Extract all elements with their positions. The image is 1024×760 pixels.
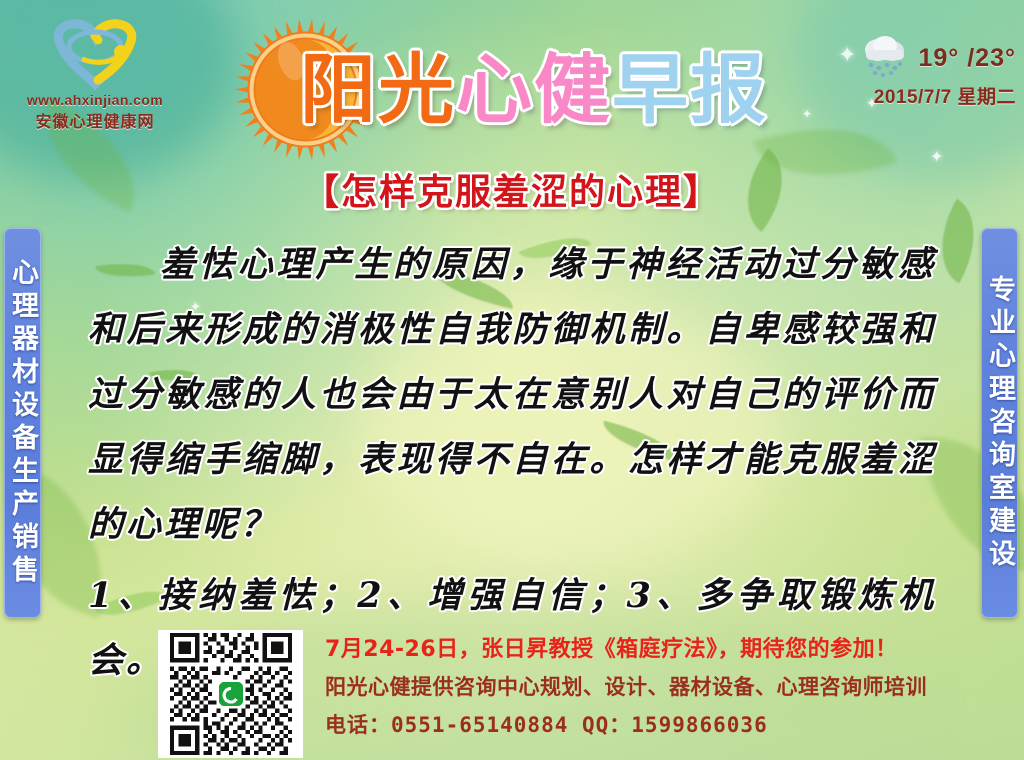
article-headline: 【怎样克服羞涩的心理】 — [0, 163, 1024, 215]
footer-text: 7月24-26日，张日昇教授《箱庭疗法》，期待您的参加！ 阳光心健提供咨询中心规… — [325, 630, 927, 744]
site-logo[interactable]: www.ahxinjian.com 安徽心理健康网 — [20, 14, 170, 132]
weather-date: 2015/7/7 星期二 — [826, 82, 1016, 109]
rain-cloud-icon — [858, 34, 914, 83]
masthead-title: 阳光 心健 早报 — [300, 38, 768, 142]
qr-code-icon[interactable] — [158, 630, 303, 758]
poster-canvas: ✦ ✦ ✦ ✦ ✦ ✦ www.ahxinjian.com 安徽心理健康网 — [0, 0, 1024, 760]
site-name-cn: 安徽心理健康网 — [20, 108, 170, 132]
masthead-part-1: 阳光 — [300, 52, 456, 128]
heart-swirl-logo-icon — [40, 14, 150, 90]
footer-contact-line: 电话：0551-65140884 QQ：1599866036 — [325, 706, 927, 744]
footer-services-line: 阳光心健提供咨询中心规划、设计、器材设备、心理咨询师培训 — [325, 668, 927, 706]
article-body: 羞怯心理产生的原因，缘于神经活动过分敏感和后来形成的消极性自我防御机制。自卑感较… — [88, 232, 936, 699]
article-paragraph: 羞怯心理产生的原因，缘于神经活动过分敏感和后来形成的消极性自我防御机制。自卑感较… — [88, 232, 936, 557]
masthead-part-2: 心健 — [456, 52, 612, 128]
sidebar-banner-left-label: 心理器材设备生产销售 — [9, 258, 36, 588]
site-url: www.ahxinjian.com — [20, 92, 170, 108]
sidebar-banner-right[interactable]: 专业心理咨询室建设 — [981, 228, 1018, 618]
sparkle-icon: ✦ — [802, 108, 812, 120]
weather-temperature: 19° /23° — [918, 44, 1016, 73]
weather-block: 19° /23° 2015/7/7 星期二 — [826, 36, 1016, 109]
sidebar-banner-right-label: 专业心理咨询室建设 — [986, 275, 1013, 572]
footer-event-line: 7月24-26日，张日昇教授《箱庭疗法》，期待您的参加！ — [325, 632, 927, 668]
footer-block: 7月24-26日，张日昇教授《箱庭疗法》，期待您的参加！ 阳光心健提供咨询中心规… — [158, 630, 1008, 758]
sidebar-banner-left[interactable]: 心理器材设备生产销售 — [4, 228, 41, 618]
masthead-part-3: 早报 — [612, 52, 768, 128]
